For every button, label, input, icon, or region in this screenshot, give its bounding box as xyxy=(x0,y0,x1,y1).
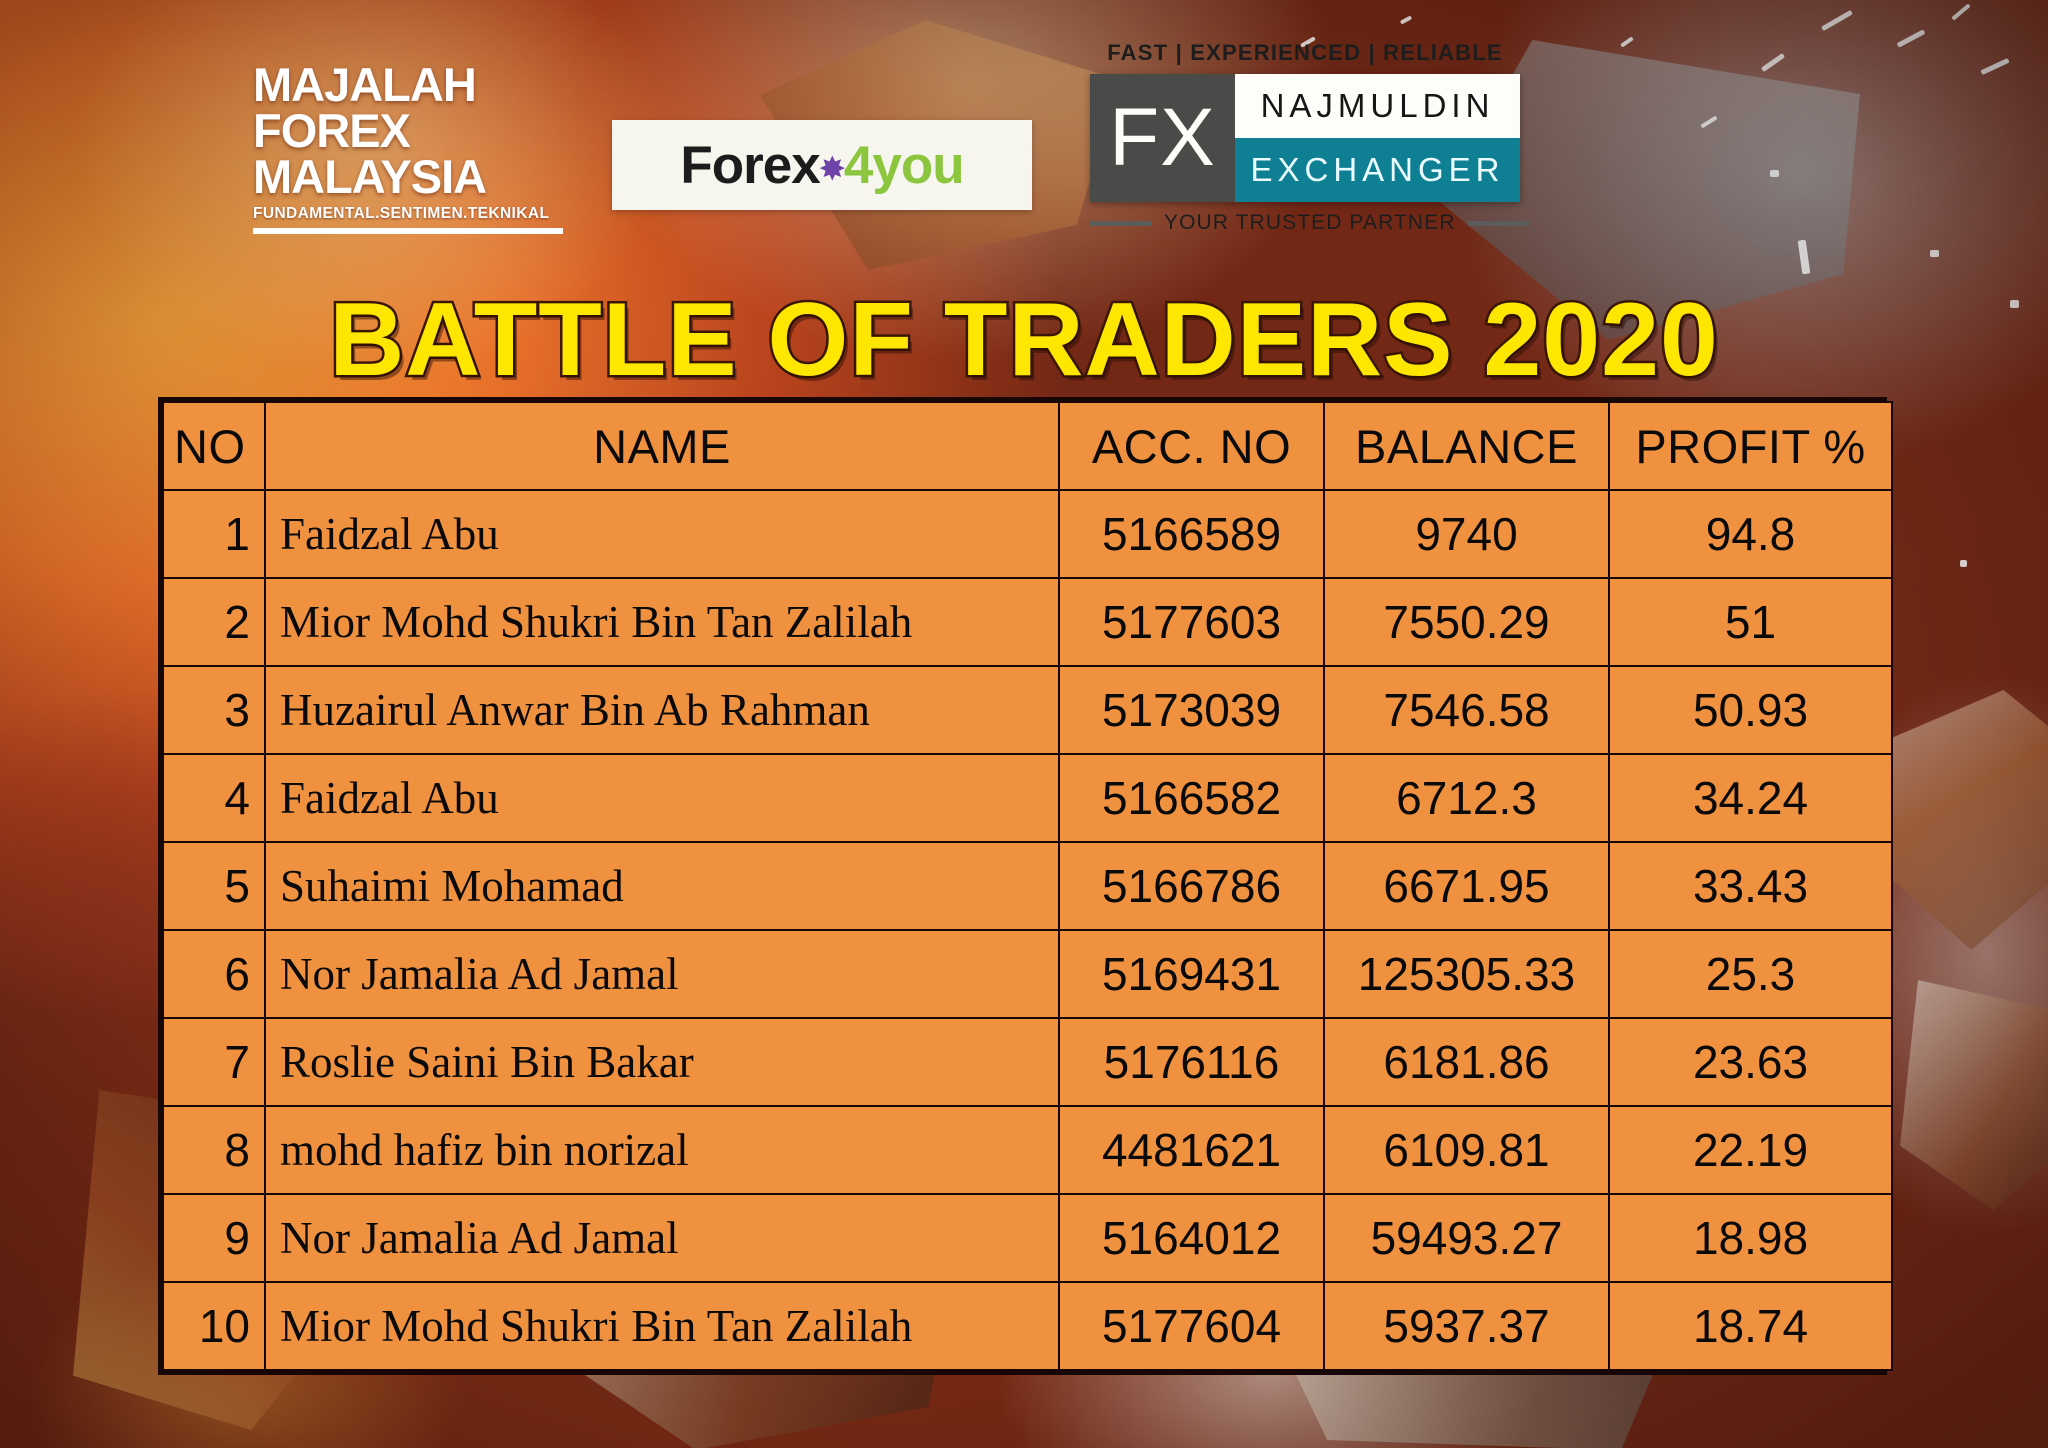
table-row: 6Nor Jamalia Ad Jamal5169431125305.3325.… xyxy=(163,930,1892,1018)
divider-left xyxy=(1090,221,1152,226)
balance-cell: 59493.27 xyxy=(1324,1194,1609,1282)
profit-percent-cell: 18.74 xyxy=(1609,1282,1892,1370)
account-number-cell: 5166786 xyxy=(1059,842,1324,930)
column-header-acc-no: ACC. NO xyxy=(1059,402,1324,490)
profit-percent-cell: 18.98 xyxy=(1609,1194,1892,1282)
balance-cell: 6671.95 xyxy=(1324,842,1609,930)
magazine-name-line2: FOREX xyxy=(253,108,563,154)
account-number-cell: 5177603 xyxy=(1059,578,1324,666)
rank-cell: 4 xyxy=(163,754,265,842)
rank-cell: 5 xyxy=(163,842,265,930)
column-header-name: NAME xyxy=(265,402,1059,490)
magazine-name-line3: MALAYSIA xyxy=(253,154,563,200)
divider-right xyxy=(1468,221,1530,226)
table-header-row: NO NAME ACC. NO BALANCE PROFIT % xyxy=(163,402,1892,490)
name-cell: Roslie Saini Bin Bakar xyxy=(265,1018,1059,1106)
page-title: BATTLE OF TRADERS 2020 xyxy=(0,281,2048,400)
table-row: 9Nor Jamalia Ad Jamal516401259493.2718.9… xyxy=(163,1194,1892,1282)
account-number-cell: 5169431 xyxy=(1059,930,1324,1018)
table-row: 8mohd hafiz bin norizal44816216109.8122.… xyxy=(163,1106,1892,1194)
table-row: 10Mior Mohd Shukri Bin Tan Zalilah517760… xyxy=(163,1282,1892,1370)
rank-cell: 7 xyxy=(163,1018,265,1106)
balance-cell: 6712.3 xyxy=(1324,754,1609,842)
poster-root: MAJALAH FOREX MALAYSIA FUNDAMENTAL.SENTI… xyxy=(0,0,2048,1448)
magazine-underline-divider xyxy=(253,228,563,234)
rank-cell: 1 xyxy=(163,490,265,578)
account-number-cell: 5176116 xyxy=(1059,1018,1324,1106)
balance-cell: 9740 xyxy=(1324,490,1609,578)
logo-majalah-forex-malaysia: MAJALAH FOREX MALAYSIA FUNDAMENTAL.SENTI… xyxy=(253,62,563,234)
magazine-tagline: FUNDAMENTAL.SENTIMEN.TEKNIKAL xyxy=(253,205,563,223)
rank-cell: 2 xyxy=(163,578,265,666)
balance-cell: 125305.33 xyxy=(1324,930,1609,1018)
logo-najmuldin-exchanger: FAST | EXPERIENCED | RELIABLE FX NAJMULD… xyxy=(1090,40,1520,235)
broker-wordmark-part1: Forex xyxy=(680,136,819,195)
balance-cell: 7550.29 xyxy=(1324,578,1609,666)
table-row: 1Faidzal Abu5166589974094.8 xyxy=(163,490,1892,578)
profit-percent-cell: 22.19 xyxy=(1609,1106,1892,1194)
exchanger-top-tagline: FAST | EXPERIENCED | RELIABLE xyxy=(1090,40,1520,66)
exchanger-fx-mark: FX xyxy=(1090,74,1235,202)
profit-percent-cell: 34.24 xyxy=(1609,754,1892,842)
table-row: 7Roslie Saini Bin Bakar51761166181.8623.… xyxy=(163,1018,1892,1106)
column-header-profit: PROFIT % xyxy=(1609,402,1892,490)
magazine-name-line1: MAJALAH xyxy=(253,62,563,108)
rank-cell: 10 xyxy=(163,1282,265,1370)
rank-cell: 8 xyxy=(163,1106,265,1194)
balance-cell: 6181.86 xyxy=(1324,1018,1609,1106)
name-cell: Mior Mohd Shukri Bin Tan Zalilah xyxy=(265,1282,1059,1370)
table-row: 4Faidzal Abu51665826712.334.24 xyxy=(163,754,1892,842)
leaderboard-table-container: NO NAME ACC. NO BALANCE PROFIT % 1Faidza… xyxy=(158,397,1887,1375)
exchanger-logo-box: FX NAJMULDIN EXCHANGER xyxy=(1090,74,1520,202)
account-number-cell: 4481621 xyxy=(1059,1106,1324,1194)
name-cell: Faidzal Abu xyxy=(265,490,1059,578)
table-header: NO NAME ACC. NO BALANCE PROFIT % xyxy=(163,402,1892,490)
column-header-balance: BALANCE xyxy=(1324,402,1609,490)
account-number-cell: 5177604 xyxy=(1059,1282,1324,1370)
column-header-no: NO xyxy=(163,402,265,490)
balance-cell: 7546.58 xyxy=(1324,666,1609,754)
exchanger-name-top: NAJMULDIN xyxy=(1235,74,1520,138)
table-row: 3Huzairul Anwar Bin Ab Rahman51730397546… xyxy=(163,666,1892,754)
profit-percent-cell: 33.43 xyxy=(1609,842,1892,930)
table-row: 2Mior Mohd Shukri Bin Tan Zalilah5177603… xyxy=(163,578,1892,666)
exchanger-name-stack: NAJMULDIN EXCHANGER xyxy=(1235,74,1520,202)
profit-percent-cell: 25.3 xyxy=(1609,930,1892,1018)
rank-cell: 3 xyxy=(163,666,265,754)
account-number-cell: 5166589 xyxy=(1059,490,1324,578)
name-cell: mohd hafiz bin norizal xyxy=(265,1106,1059,1194)
exchanger-bottom-row: YOUR TRUSTED PARTNER xyxy=(1090,211,1520,235)
exchanger-name-bottom: EXCHANGER xyxy=(1235,138,1520,202)
name-cell: Suhaimi Mohamad xyxy=(265,842,1059,930)
logo-forex4you: Forex✸4you xyxy=(612,120,1032,210)
name-cell: Mior Mohd Shukri Bin Tan Zalilah xyxy=(265,578,1059,666)
name-cell: Huzairul Anwar Bin Ab Rahman xyxy=(265,666,1059,754)
broker-wordmark-part2: 4you xyxy=(844,136,964,195)
account-number-cell: 5166582 xyxy=(1059,754,1324,842)
profit-percent-cell: 50.93 xyxy=(1609,666,1892,754)
broker-wordmark: Forex✸4you xyxy=(680,135,963,196)
table-row: 5Suhaimi Mohamad51667866671.9533.43 xyxy=(163,842,1892,930)
star-icon: ✸ xyxy=(820,153,844,186)
profit-percent-cell: 23.63 xyxy=(1609,1018,1892,1106)
profit-percent-cell: 51 xyxy=(1609,578,1892,666)
leaderboard-table: NO NAME ACC. NO BALANCE PROFIT % 1Faidza… xyxy=(162,401,1893,1371)
name-cell: Nor Jamalia Ad Jamal xyxy=(265,930,1059,1018)
name-cell: Faidzal Abu xyxy=(265,754,1059,842)
account-number-cell: 5164012 xyxy=(1059,1194,1324,1282)
profit-percent-cell: 94.8 xyxy=(1609,490,1892,578)
balance-cell: 6109.81 xyxy=(1324,1106,1609,1194)
rank-cell: 9 xyxy=(163,1194,265,1282)
rank-cell: 6 xyxy=(163,930,265,1018)
account-number-cell: 5173039 xyxy=(1059,666,1324,754)
name-cell: Nor Jamalia Ad Jamal xyxy=(265,1194,1059,1282)
table-body: 1Faidzal Abu5166589974094.82Mior Mohd Sh… xyxy=(163,490,1892,1370)
balance-cell: 5937.37 xyxy=(1324,1282,1609,1370)
exchanger-bottom-tagline: YOUR TRUSTED PARTNER xyxy=(1164,211,1456,235)
